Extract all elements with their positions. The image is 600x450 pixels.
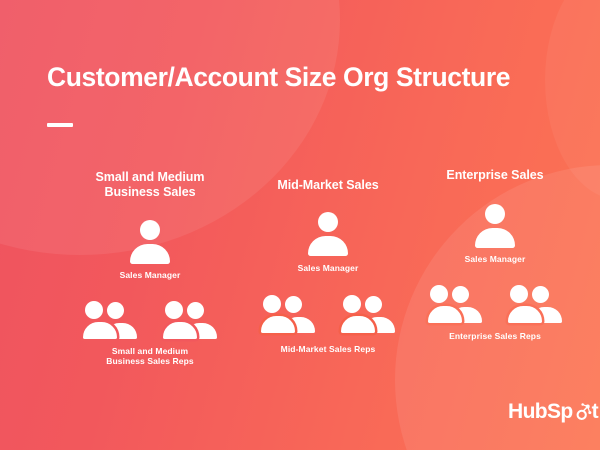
people-group-icon-head-left <box>343 295 361 313</box>
manager-label: Sales Manager <box>120 270 181 281</box>
people-group-icon-head-left <box>85 301 103 319</box>
hubspot-logo: HubSp t <box>508 400 598 424</box>
people-group-icon <box>508 285 562 323</box>
manager-label: Sales Manager <box>465 254 526 265</box>
person-icon-head <box>485 204 505 224</box>
people-group-icon <box>428 285 482 323</box>
people-group-icon-head-left <box>510 285 528 303</box>
people-group-icon-head-right <box>532 286 549 303</box>
hubspot-sprocket-icon <box>573 403 592 422</box>
people-group-icon-head-left <box>430 285 448 303</box>
people-group-icon-head-left <box>165 301 183 319</box>
reps-label: Enterprise Sales Reps <box>400 331 590 342</box>
people-group-icon <box>341 295 395 333</box>
person-icon-body <box>308 236 348 256</box>
reps-icon-row <box>400 285 590 323</box>
org-column-enterprise: Enterprise Sales Sales Manager <box>400 168 590 341</box>
reps-label-line-2: Business Sales Reps <box>44 356 256 367</box>
people-group-icon-head-right <box>365 296 382 313</box>
title-underline-rule <box>47 123 73 127</box>
slide-canvas: Customer/Account Size Org Structure Smal… <box>0 0 600 450</box>
person-icon <box>306 212 350 254</box>
people-group-icon-head-right <box>285 296 302 313</box>
manager-node: Sales Manager <box>400 204 590 265</box>
people-group-icon-head-right <box>187 302 204 319</box>
people-group-icon <box>83 301 137 339</box>
person-icon-body <box>130 244 170 264</box>
column-heading: Enterprise Sales <box>400 168 590 183</box>
person-icon-body <box>475 228 515 248</box>
hubspot-logo-text-before: HubSp <box>508 400 573 424</box>
person-icon <box>128 220 172 262</box>
person-icon-head <box>140 220 160 240</box>
column-heading-line-1: Enterprise Sales <box>400 168 590 183</box>
reps-label-line-1: Mid-Market Sales Reps <box>222 344 434 355</box>
people-group-icon-head-right <box>452 286 469 303</box>
manager-label: Sales Manager <box>298 263 359 274</box>
person-icon-head <box>318 212 338 232</box>
reps-label-line-1: Enterprise Sales Reps <box>400 331 590 342</box>
people-group-icon <box>261 295 315 333</box>
people-group-icon <box>163 301 217 339</box>
reps-label: Mid-Market Sales Reps <box>222 344 434 355</box>
page-title: Customer/Account Size Org Structure <box>47 62 510 93</box>
person-icon <box>473 204 517 246</box>
people-group-icon-head-left <box>263 295 281 313</box>
hubspot-logo-text-after: t <box>592 400 598 424</box>
people-group-icon-head-right <box>107 302 124 319</box>
